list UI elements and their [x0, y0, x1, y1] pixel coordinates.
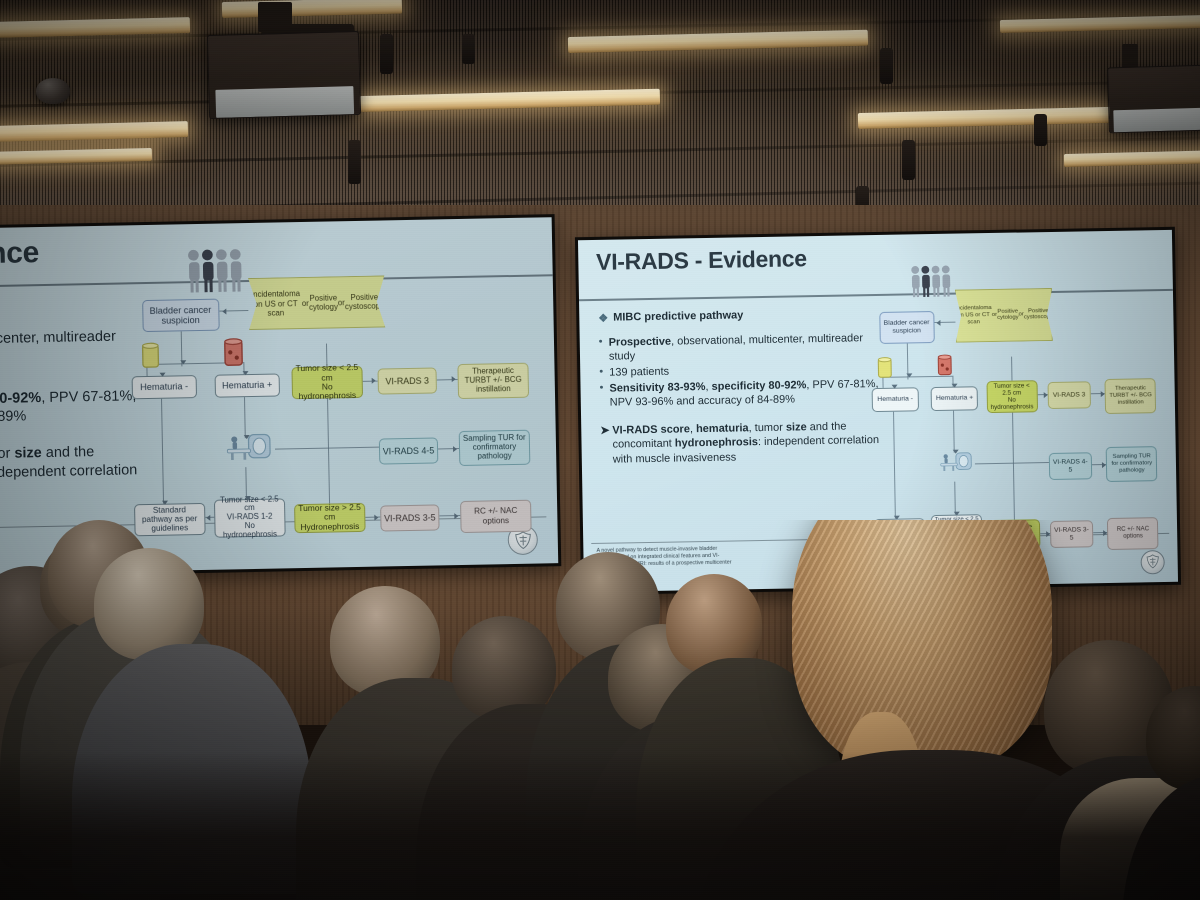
- mri-scanner-icon: [221, 423, 275, 471]
- bullet-text: Prospective, observational, multicenter,…: [0, 328, 142, 371]
- section-heading-row: ❖ MIBC predictive pathway: [0, 296, 141, 319]
- flow-node-turbt: Therapeutic TURBT +/- BCG instillation: [457, 363, 529, 399]
- flow-arrowhead: [160, 373, 166, 377]
- track-spotlight: [902, 140, 915, 180]
- flow-arrowhead: [372, 378, 376, 384]
- flow-node-vr3: VI-RADS 3: [377, 367, 437, 394]
- ceiling: [0, 0, 1200, 215]
- bullet-text: Sensitivity 83-93%, specificity 80-92%, …: [0, 388, 144, 431]
- flow-connector: [275, 447, 379, 450]
- urine-sample-icon: [137, 341, 164, 371]
- blood-sample-icon: [935, 349, 955, 382]
- flow-node-turbt: Therapeutic TURBT +/- BCG instillation: [1105, 378, 1157, 414]
- flow-node-hema-neg: Hematuria -: [872, 388, 919, 412]
- blonde-hair: [792, 520, 1052, 772]
- flow-arrowhead: [936, 320, 940, 326]
- flow-arrowhead: [892, 385, 898, 389]
- flow-arrowhead: [452, 376, 456, 382]
- flow-connector: [893, 412, 896, 518]
- flow-connector: [1012, 413, 1015, 519]
- slide-title: VI-RADS - Evidence: [0, 236, 39, 275]
- flow-connector: [954, 482, 956, 515]
- linear-light-fixture: [360, 89, 660, 112]
- flow-arrowhead: [951, 384, 957, 388]
- bullet-list: •Prospective, observational, multicenter…: [599, 332, 879, 410]
- blood-sample-icon: [220, 336, 247, 368]
- flow-node-trigger: Incidentaloma on US or CT scanorPositive…: [955, 288, 1053, 343]
- people-icon: [908, 257, 960, 305]
- people-icon: [182, 246, 254, 294]
- flow-connector: [975, 462, 1049, 464]
- linear-light-fixture: [222, 0, 402, 18]
- flow-arrowhead: [454, 513, 458, 519]
- flow-node-vr45: VI-RADS 4-5: [1049, 453, 1092, 480]
- bullet-text: Prospective, observational, multicenter,…: [609, 332, 879, 364]
- flow-node-hema-pos: Hematuria +: [214, 373, 280, 397]
- flow-arrowhead: [954, 511, 960, 515]
- ceiling-projector: [1107, 65, 1200, 134]
- flow-node-sampling: Sampling TUR for confirmatory pathology: [1106, 446, 1158, 482]
- flow-arrowhead: [907, 373, 913, 377]
- flow-arrowhead: [180, 361, 186, 365]
- conclusion-text: VI-RADS score, hematuria, tumor size and…: [612, 419, 880, 467]
- flow-node-hema-neg: Hematuria -: [131, 375, 197, 399]
- bullet-item: •Sensitivity 83-93%, specificity 80-92%,…: [0, 388, 144, 431]
- section-heading: MIBC predictive pathway: [613, 309, 743, 323]
- flow-arrowhead: [244, 435, 250, 439]
- flow-arrowhead: [453, 446, 457, 452]
- flow-node-vr3: VI-RADS 3: [1048, 382, 1091, 409]
- slide-title: VI-RADS - Evidence: [596, 245, 807, 276]
- track-spotlight: [348, 140, 361, 184]
- flow-arrowhead: [1102, 462, 1106, 468]
- bullet-item: •Prospective, observational, multicenter…: [0, 328, 142, 371]
- track-spotlight: [462, 34, 475, 64]
- flow-arrowhead: [162, 500, 168, 504]
- flow-arrowhead: [1044, 392, 1048, 398]
- diamond-bullet-icon: ❖: [598, 312, 608, 325]
- flow-node-trigger: Incidentaloma on US or CT scanorPositive…: [248, 275, 385, 330]
- flow-arrowhead: [894, 515, 900, 519]
- conclusion-block: ➤ VI-RADS score, hematuria, tumor size a…: [600, 419, 880, 467]
- flow-arrowhead: [1101, 391, 1105, 397]
- audience: [0, 520, 1200, 900]
- mri-scanner-icon: [936, 437, 975, 485]
- conclusion-block: ➤ VI-RADS score, hematuria, tumor size a…: [0, 442, 145, 506]
- flow-node-size-small: Tumor size < 2.5 cmNo hydronephrosis: [986, 380, 1037, 413]
- track-spotlight: [1034, 114, 1047, 146]
- flow-node-suspicion: Bladder cancer suspicion: [142, 299, 220, 332]
- track-spotlight: [880, 48, 893, 84]
- bullet-text: Sensitivity 83-93%, specificity 80-92%, …: [609, 378, 879, 410]
- urine-sample-icon: [875, 353, 895, 383]
- flow-node-sampling: Sampling TUR for confirmatory pathology: [459, 430, 531, 466]
- mibc-pathway-flowchart: Bladder cancer suspicionIncidentaloma on…: [129, 252, 550, 551]
- bullet-list: •Prospective, observational, multicenter…: [0, 328, 144, 431]
- linear-light-fixture: [858, 107, 1118, 129]
- bullet-dot-icon: •: [599, 367, 603, 379]
- flow-node-vr45: VI-RADS 4-5: [379, 437, 439, 464]
- section-heading-row: ❖ MIBC predictive pathway: [598, 307, 877, 325]
- flow-node-hema-pos: Hematuria +: [931, 387, 978, 411]
- flow-arrowhead: [245, 496, 251, 500]
- flow-arrowhead: [952, 449, 958, 453]
- bullet-item: •Prospective, observational, multicenter…: [599, 332, 879, 364]
- dome-camera: [36, 78, 70, 104]
- flow-connector: [1011, 357, 1012, 381]
- audience-row-foreground: [0, 752, 1200, 900]
- linear-light-fixture: [0, 121, 188, 142]
- flow-arrowhead: [222, 308, 226, 314]
- bullet-item: •Sensitivity 83-93%, specificity 80-92%,…: [599, 378, 879, 410]
- bullet-text: 139 patients: [609, 366, 669, 381]
- linear-light-fixture: [1064, 150, 1200, 167]
- linear-light-fixture: [568, 30, 868, 53]
- lecture-hall-photo: VI-RADS - Evidence ❖ MIBC predictive pat…: [0, 0, 1200, 900]
- arrow-bullet-icon: ➤: [600, 424, 609, 438]
- conclusion-text: VI-RADS score, hematuria, tumor size and…: [0, 442, 145, 505]
- bullet-dot-icon: •: [599, 383, 603, 395]
- track-spotlight: [380, 34, 393, 74]
- flow-connector: [161, 399, 164, 504]
- flow-node-suspicion: Bladder cancer suspicion: [879, 311, 935, 344]
- flow-connector: [327, 399, 330, 504]
- flow-node-size-small: Tumor size < 2.5 cmNo hydronephrosis: [291, 366, 363, 399]
- ceiling-projector: [207, 31, 361, 119]
- bullet-dot-icon: •: [599, 337, 603, 349]
- bullet-item: •139 patients: [599, 362, 878, 380]
- flow-arrowhead: [243, 371, 249, 375]
